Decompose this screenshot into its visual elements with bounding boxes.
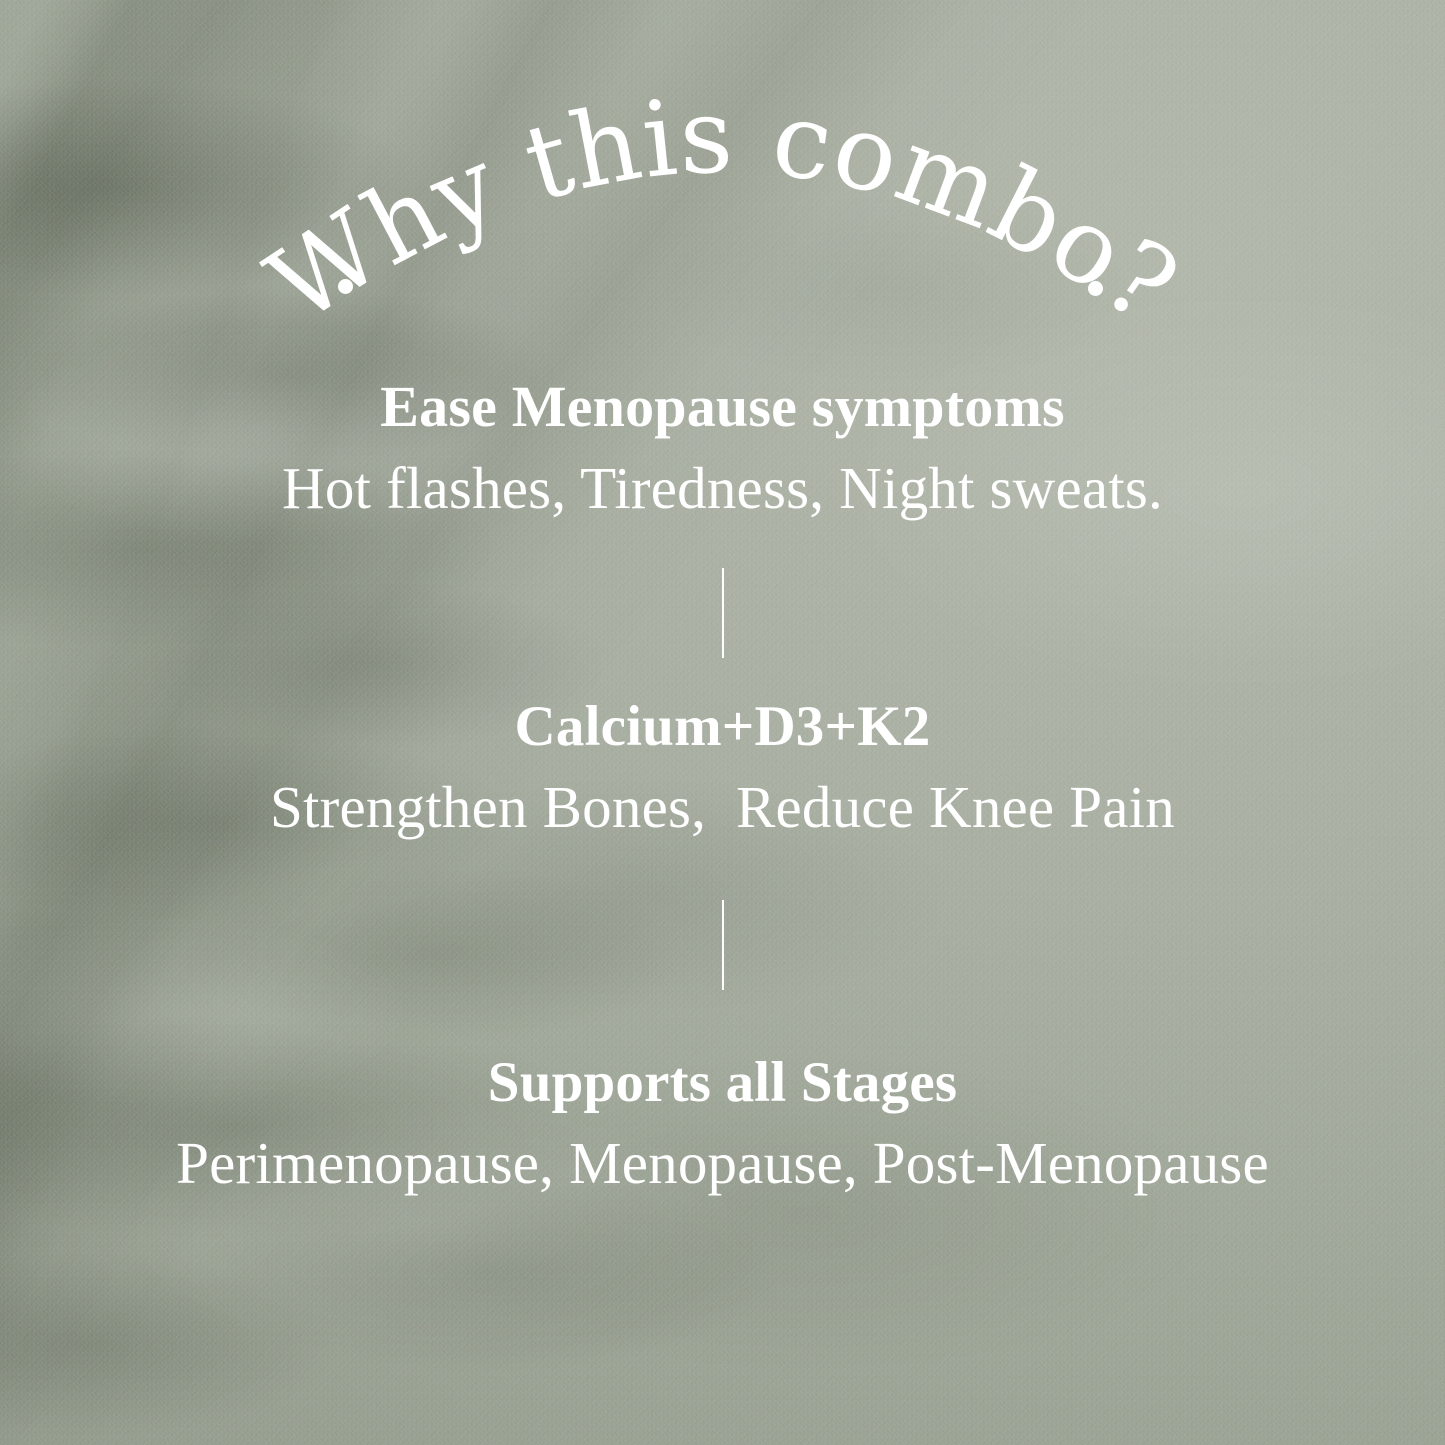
poster-content: Why this combo? Ease Menopause symptoms …	[0, 0, 1445, 1445]
arc-headline-text: Why this combo?	[247, 75, 1200, 348]
arc-dot-left-icon	[338, 279, 353, 294]
benefit-subtext: Strengthen Bones, Reduce Knee Pain	[0, 778, 1445, 837]
benefit-heading: Calcium+D3+K2	[0, 698, 1445, 755]
arc-headline-svg: Why this combo?	[0, 78, 1445, 308]
arc-headline-textpath: Why this combo?	[247, 75, 1200, 348]
benefit-block-menopause-symptoms: Ease Menopause symptoms Hot flashes, Tir…	[0, 378, 1445, 518]
benefit-block-supports-all-stages: Supports all Stages Perimenopause, Menop…	[0, 1054, 1445, 1193]
benefit-subtext: Hot flashes, Tiredness, Night sweats.	[0, 459, 1445, 518]
benefit-block-calcium-d3-k2: Calcium+D3+K2 Strengthen Bones, Reduce K…	[0, 698, 1445, 837]
arc-headline: Why this combo?	[0, 78, 1445, 308]
poster-canvas: Why this combo? Ease Menopause symptoms …	[0, 0, 1445, 1445]
benefit-heading: Supports all Stages	[0, 1054, 1445, 1111]
section-divider-2	[722, 900, 724, 990]
arc-dot-right-icon	[1088, 281, 1103, 296]
benefit-subtext: Perimenopause, Menopause, Post-Menopause	[0, 1134, 1445, 1193]
benefit-heading: Ease Menopause symptoms	[0, 378, 1445, 436]
section-divider-1	[722, 568, 724, 658]
